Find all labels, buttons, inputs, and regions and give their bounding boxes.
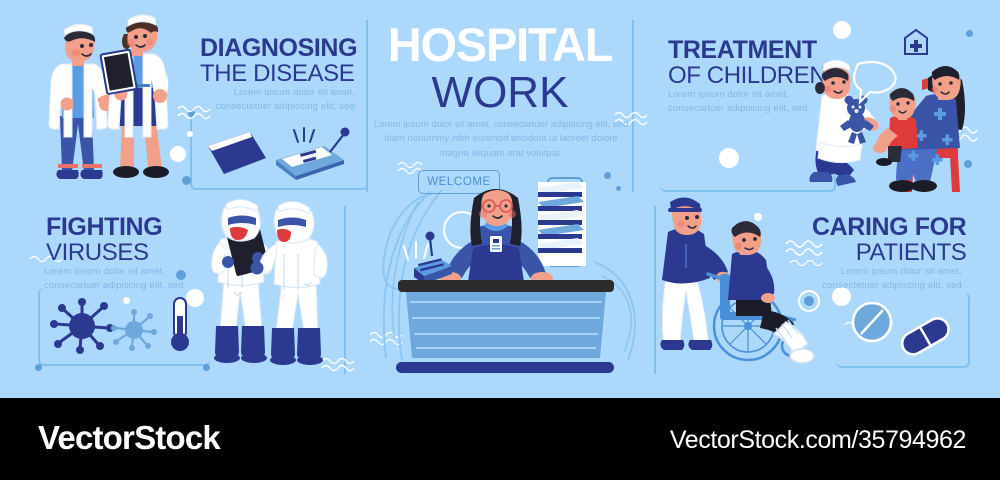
heading-diagnosing-line2: THE DISEASE	[200, 62, 357, 86]
body-fighting: Lorem ipsum dolor sit amet, consectetuer…	[44, 265, 199, 293]
decor-dot-19	[966, 30, 973, 37]
doctor-kneeling	[810, 60, 881, 186]
heading-treatment: TREATMENT OF CHILDREN	[668, 38, 826, 88]
watermark-bar: VectorStock VectorStock.com/35794962	[0, 398, 1000, 480]
divider-center-right	[632, 20, 634, 192]
center-subtitle: Lorem ipsum dolor sit amet, consectetuer…	[372, 118, 630, 161]
heading-caring: CARING FOR PATIENTS	[812, 215, 966, 265]
vectorstock-url: VectorStock.com/35794962	[670, 426, 966, 455]
title-line-work: WORK	[370, 70, 630, 116]
reception-desk	[398, 280, 614, 358]
body-diagnosing: Lorem ipsum dolor sit amet, consectetuer…	[215, 86, 355, 114]
doctor-male	[49, 24, 114, 179]
illustration-viruses	[50, 296, 200, 358]
decor-dot-16	[833, 21, 851, 39]
icon-card-reader	[404, 232, 452, 285]
decor-dot-11	[616, 186, 621, 191]
heading-fighting-line2: VIRUSES	[46, 241, 162, 265]
heading-fighting: FIGHTING VIRUSES	[46, 215, 162, 265]
doctor-female	[100, 15, 169, 178]
icon-hospital-building	[903, 28, 929, 56]
decor-dot-17	[719, 148, 739, 168]
icon-tablet-device	[208, 132, 266, 174]
illustration-pills	[850, 302, 960, 360]
icon-tablet-pill	[853, 303, 891, 341]
infographic-poster: HOSPITAL WORK Lorem ipsum dolor sit amet…	[0, 0, 1000, 398]
virus-large-icon	[50, 298, 114, 354]
thermometer-icon	[171, 298, 189, 351]
illustration-hazmat-workers	[198, 196, 348, 374]
vectorstock-logo: VectorStock	[38, 419, 220, 457]
receptionist	[439, 189, 553, 284]
body-treatment: Lorem ipsum dolor sit amet, consectetuer…	[668, 88, 818, 116]
decor-dot-7	[35, 364, 42, 371]
heading-diagnosing-line1: DIAGNOSING	[200, 36, 357, 62]
illustration-child-treatment	[804, 62, 990, 198]
heading-caring-line2: PATIENTS	[812, 241, 966, 265]
heading-treatment-line1: TREATMENT	[668, 38, 826, 64]
page-title: HOSPITAL WORK	[370, 22, 630, 116]
hazmat-worker-left	[212, 199, 273, 363]
title-line-hospital: HOSPITAL	[370, 22, 630, 68]
illustration-wheelchair	[656, 198, 826, 374]
icon-scanner-device	[276, 128, 350, 181]
icon-document-stack	[538, 178, 586, 266]
heading-caring-line1: CARING FOR	[812, 215, 966, 241]
divider-center-left	[366, 20, 368, 192]
screenshot-canvas: HOSPITAL WORK Lorem ipsum dolor sit amet…	[0, 0, 1000, 480]
speech-bubble-icon	[854, 62, 895, 102]
patient-in-wheelchair	[728, 221, 814, 363]
illustration-reception	[396, 176, 616, 366]
illustration-diagnostic-tools	[204, 128, 360, 188]
virus-small-icon	[111, 309, 157, 351]
heading-fighting-line1: FIGHTING	[46, 215, 162, 241]
illustration-two-doctors	[34, 12, 200, 194]
icon-capsule-pill	[898, 314, 952, 358]
heading-treatment-line2: OF CHILDREN	[668, 64, 826, 88]
heading-diagnosing: DIAGNOSING THE DISEASE	[200, 36, 357, 86]
